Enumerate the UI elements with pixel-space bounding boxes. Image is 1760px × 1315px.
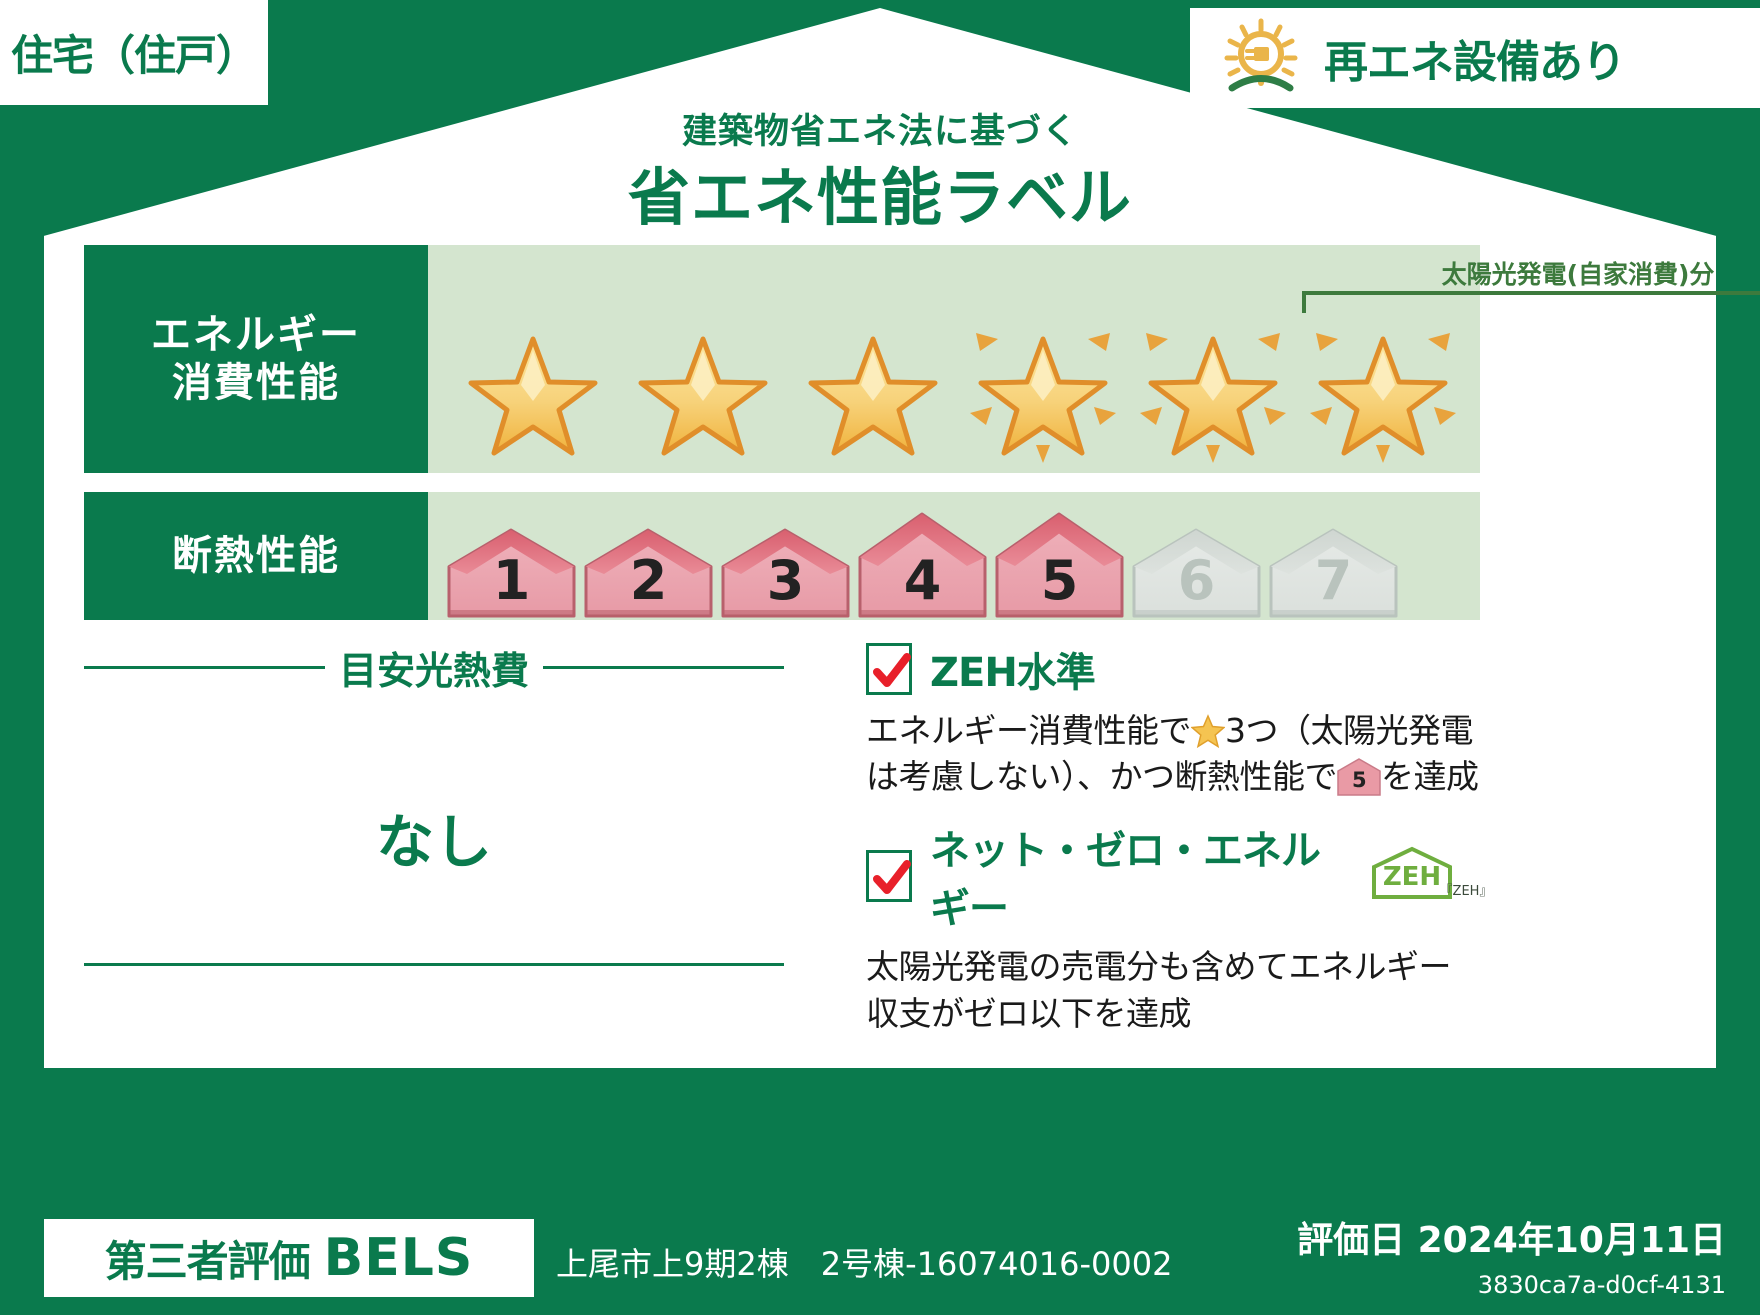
utility-cost-value: なし <box>84 795 784 879</box>
energy-star-1 <box>448 305 618 465</box>
svg-text:ZEH: ZEH <box>1383 862 1441 892</box>
zeh-desc-line1-b: 3つ（太陽光発電 <box>1225 711 1473 750</box>
star-icon <box>958 305 1128 465</box>
evaluation-date: 評価日 2024年10月11日 <box>1297 1211 1726 1263</box>
energy-star-3 <box>788 305 958 465</box>
utility-cost-heading: 目安光熱費 <box>84 640 784 695</box>
insulation-level-number: 6 <box>1131 549 1262 612</box>
bels-logo-text: BELS <box>324 1228 474 1288</box>
net-zero-description: 太陽光発電の売電分も含めてエネルギー 収支がゼロ以下を達成 <box>866 944 1486 1036</box>
insulation-level-5: 5 <box>994 512 1125 620</box>
star-icon <box>1298 305 1468 465</box>
insulation-level-number: 7 <box>1268 549 1399 612</box>
energy-star-4 <box>958 305 1128 465</box>
energy-star-6 <box>1298 305 1468 465</box>
utility-cost-title: 目安光熱費 <box>339 640 529 695</box>
footer: 第三者評価 BELS 上尾市上9期2棟 2号棟-16074016-0002 評価… <box>0 1195 1760 1315</box>
energy-label-line1: エネルギー <box>151 311 361 359</box>
page-title: 省エネ性能ラベル <box>0 147 1760 237</box>
bels-mark-box: 第三者評価 BELS <box>44 1219 534 1297</box>
dwelling-type-tag: 住宅（住戸） <box>0 0 268 105</box>
insulation-performance-row: 断熱性能 1 <box>84 492 1480 620</box>
zeh-logo-icon: ZEH 『ZEH』 <box>1366 845 1486 907</box>
inline-insulation-house-icon: 5 <box>1337 758 1381 796</box>
star-icon <box>1128 305 1298 465</box>
zeh-standard-description: エネルギー消費性能で3つ（太陽光発電 は考慮しない）、かつ断熱性能で5を達成 <box>866 708 1486 800</box>
insulation-level-1: 1 <box>446 528 577 620</box>
insulation-level-number: 3 <box>720 549 851 612</box>
inline-house-number: 5 <box>1337 766 1381 795</box>
insulation-level-3: 3 <box>720 528 851 620</box>
utility-cost-section: 目安光熱費 なし <box>84 640 784 879</box>
star-icon <box>788 305 958 465</box>
sun-plug-icon <box>1220 17 1302 99</box>
insulation-label-text: 断熱性能 <box>172 532 340 580</box>
star-icon <box>448 305 618 465</box>
zeh-desc-line2-b: を達成 <box>1381 757 1479 796</box>
insulation-level-7: 7 <box>1268 528 1399 620</box>
net-zero-title: ネット・ゼロ・エネルギー <box>930 818 1340 934</box>
zeh-section: ZEH水準 エネルギー消費性能で3つ（太陽光発電 は考慮しない）、かつ断熱性能で… <box>866 640 1486 1043</box>
energy-star-5 <box>1128 305 1298 465</box>
energy-label-line2: 消費性能 <box>172 359 340 407</box>
insulation-performance-body: 1 2 <box>428 492 1480 620</box>
check-icon <box>872 858 912 900</box>
insulation-level-number: 4 <box>857 549 988 612</box>
evaluation-id: 3830ca7a-d0cf-4131 <box>1478 1271 1726 1299</box>
inline-star-icon <box>1191 714 1225 748</box>
third-party-eval-label: 第三者評価 <box>105 1228 310 1289</box>
energy-star-2 <box>618 305 788 465</box>
insulation-level-4: 4 <box>857 512 988 620</box>
zeh-standard-title: ZEH水準 <box>930 640 1095 698</box>
zeh-desc-line2-a: は考慮しない）、かつ断熱性能で <box>866 757 1337 796</box>
insulation-performance-label: 断熱性能 <box>84 492 428 620</box>
energy-star-rating <box>448 305 1468 465</box>
renewable-equipment-badge: 再エネ設備あり <box>1190 8 1760 108</box>
insulation-level-number: 1 <box>446 549 577 612</box>
bels-label-root: 住宅（住戸） <box>0 0 1760 1315</box>
insulation-level-6: 6 <box>1131 528 1262 620</box>
utility-cost-bottom-rule <box>84 963 784 966</box>
insulation-level-number: 5 <box>994 549 1125 612</box>
check-icon <box>872 651 912 693</box>
star-icon <box>618 305 788 465</box>
net-zero-desc-line2: 収支がゼロ以下を達成 <box>866 994 1191 1033</box>
energy-performance-label: エネルギー 消費性能 <box>84 245 428 473</box>
net-zero-checkbox[interactable] <box>866 850 912 902</box>
energy-performance-row: エネルギー 消費性能 太陽光発電(自家消費)分 <box>84 245 1480 473</box>
insulation-level-2: 2 <box>583 528 714 620</box>
insulation-level-number: 2 <box>583 549 714 612</box>
net-zero-energy-item: ネット・ゼロ・エネルギー ZEH 『ZEH』 太陽光発電の売電分も含めてエネルギ… <box>866 818 1486 1036</box>
net-zero-desc-line1: 太陽光発電の売電分も含めてエネルギー <box>866 947 1451 986</box>
net-zero-heading: ネット・ゼロ・エネルギー ZEH 『ZEH』 <box>866 818 1486 934</box>
zeh-desc-line1-a: エネルギー消費性能で <box>866 711 1191 750</box>
heading-rule-right <box>543 666 784 669</box>
energy-performance-body: 太陽光発電(自家消費)分 <box>428 245 1480 473</box>
svg-text:『ZEH』: 『ZEH』 <box>1440 884 1486 899</box>
zeh-standard-heading: ZEH水準 <box>866 640 1486 698</box>
solar-self-consumption-note: 太陽光発電(自家消費)分 <box>1318 255 1760 291</box>
heading-rule-left <box>84 666 325 669</box>
dwelling-type-label: 住宅（住戸） <box>11 22 257 83</box>
zeh-standard-checkbox[interactable] <box>866 643 912 695</box>
zeh-standard-item: ZEH水準 エネルギー消費性能で3つ（太陽光発電 は考慮しない）、かつ断熱性能で… <box>866 640 1486 800</box>
insulation-level-scale: 1 2 <box>446 508 1399 620</box>
building-name: 上尾市上9期2棟 2号棟-16074016-0002 <box>556 1239 1173 1285</box>
renewable-badge-label: 再エネ設備あり <box>1324 26 1625 90</box>
